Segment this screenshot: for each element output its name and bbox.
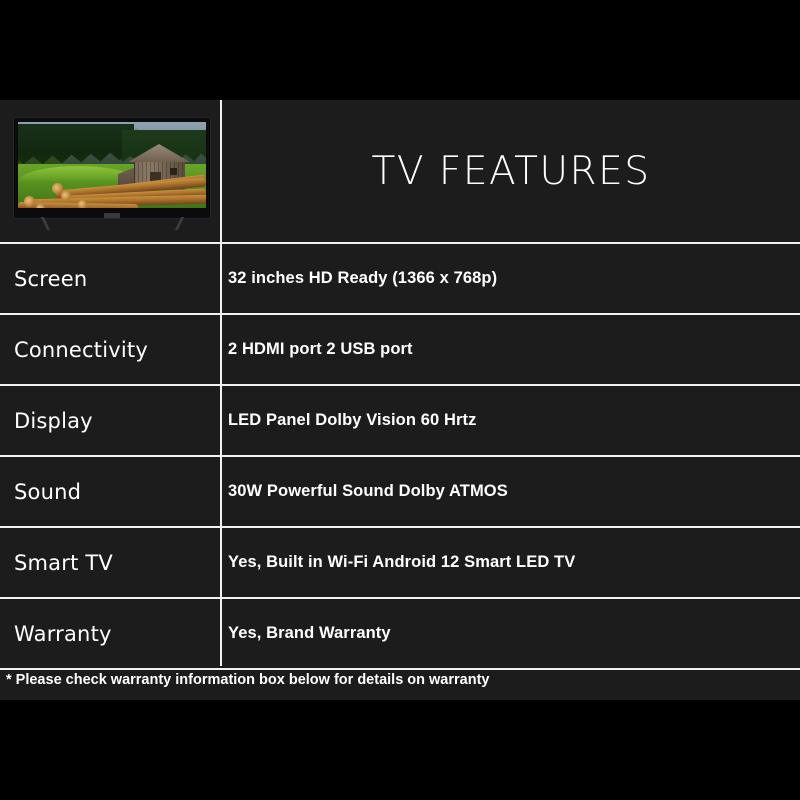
- page-title: TV FEATURES: [372, 149, 651, 194]
- spec-value-smart-tv: Yes, Built in Wi-Fi Android 12 Smart LED…: [220, 553, 800, 572]
- table-row: Warranty Yes, Brand Warranty: [0, 599, 800, 668]
- table-row: Sound 30W Powerful Sound Dolby ATMOS: [0, 457, 800, 526]
- letterbox-top-bar: [0, 0, 800, 100]
- table-row: Smart TV Yes, Built in Wi-Fi Android 12 …: [0, 528, 800, 597]
- spec-table: Screen 32 inches HD Ready (1366 x 768p) …: [0, 242, 800, 670]
- infographic-canvas: TV FEATURES Screen 32 inches HD Ready (1…: [0, 0, 800, 800]
- tv-leg-left: [41, 217, 50, 230]
- spec-value-display: LED Panel Dolby Vision 60 Hrtz: [220, 411, 800, 430]
- spec-label-connectivity: Connectivity: [0, 338, 220, 362]
- spec-label-smart-tv: Smart TV: [0, 551, 220, 575]
- spec-label-warranty: Warranty: [0, 622, 220, 646]
- tv-product-photo: [14, 118, 210, 230]
- scene-log-end: [24, 196, 35, 207]
- tv-bezel: [14, 118, 210, 218]
- spec-label-screen: Screen: [0, 267, 220, 291]
- tv-image-cell: [0, 100, 220, 242]
- tv-brand-badge: [104, 213, 120, 218]
- warranty-footnote: * Please check warranty information box …: [6, 672, 796, 688]
- spec-label-sound: Sound: [0, 480, 220, 504]
- panel-header: TV FEATURES: [0, 100, 800, 242]
- scene-barn-window: [170, 168, 177, 175]
- spec-value-screen: 32 inches HD Ready (1366 x 768p): [220, 269, 800, 288]
- row-divider: [0, 668, 800, 670]
- scene-log-end: [36, 204, 45, 208]
- letterbox-bottom-bar: [0, 700, 800, 800]
- table-row: Screen 32 inches HD Ready (1366 x 768p): [0, 244, 800, 313]
- screen-scene: [18, 122, 206, 208]
- title-cell: TV FEATURES: [222, 100, 800, 242]
- table-row: Display LED Panel Dolby Vision 60 Hrtz: [0, 386, 800, 455]
- tv-features-panel: TV FEATURES Screen 32 inches HD Ready (1…: [0, 100, 800, 700]
- tv-leg-right: [175, 217, 184, 230]
- table-row: Connectivity 2 HDMI port 2 USB port: [0, 315, 800, 384]
- spec-value-warranty: Yes, Brand Warranty: [220, 624, 800, 643]
- tv-screen: [18, 122, 206, 208]
- scene-log-pile: [18, 178, 206, 208]
- spec-value-sound: 30W Powerful Sound Dolby ATMOS: [220, 482, 800, 501]
- spec-value-connectivity: 2 HDMI port 2 USB port: [220, 340, 800, 359]
- scene-log-end: [78, 200, 87, 208]
- scene-log-end: [61, 191, 71, 201]
- spec-label-display: Display: [0, 409, 220, 433]
